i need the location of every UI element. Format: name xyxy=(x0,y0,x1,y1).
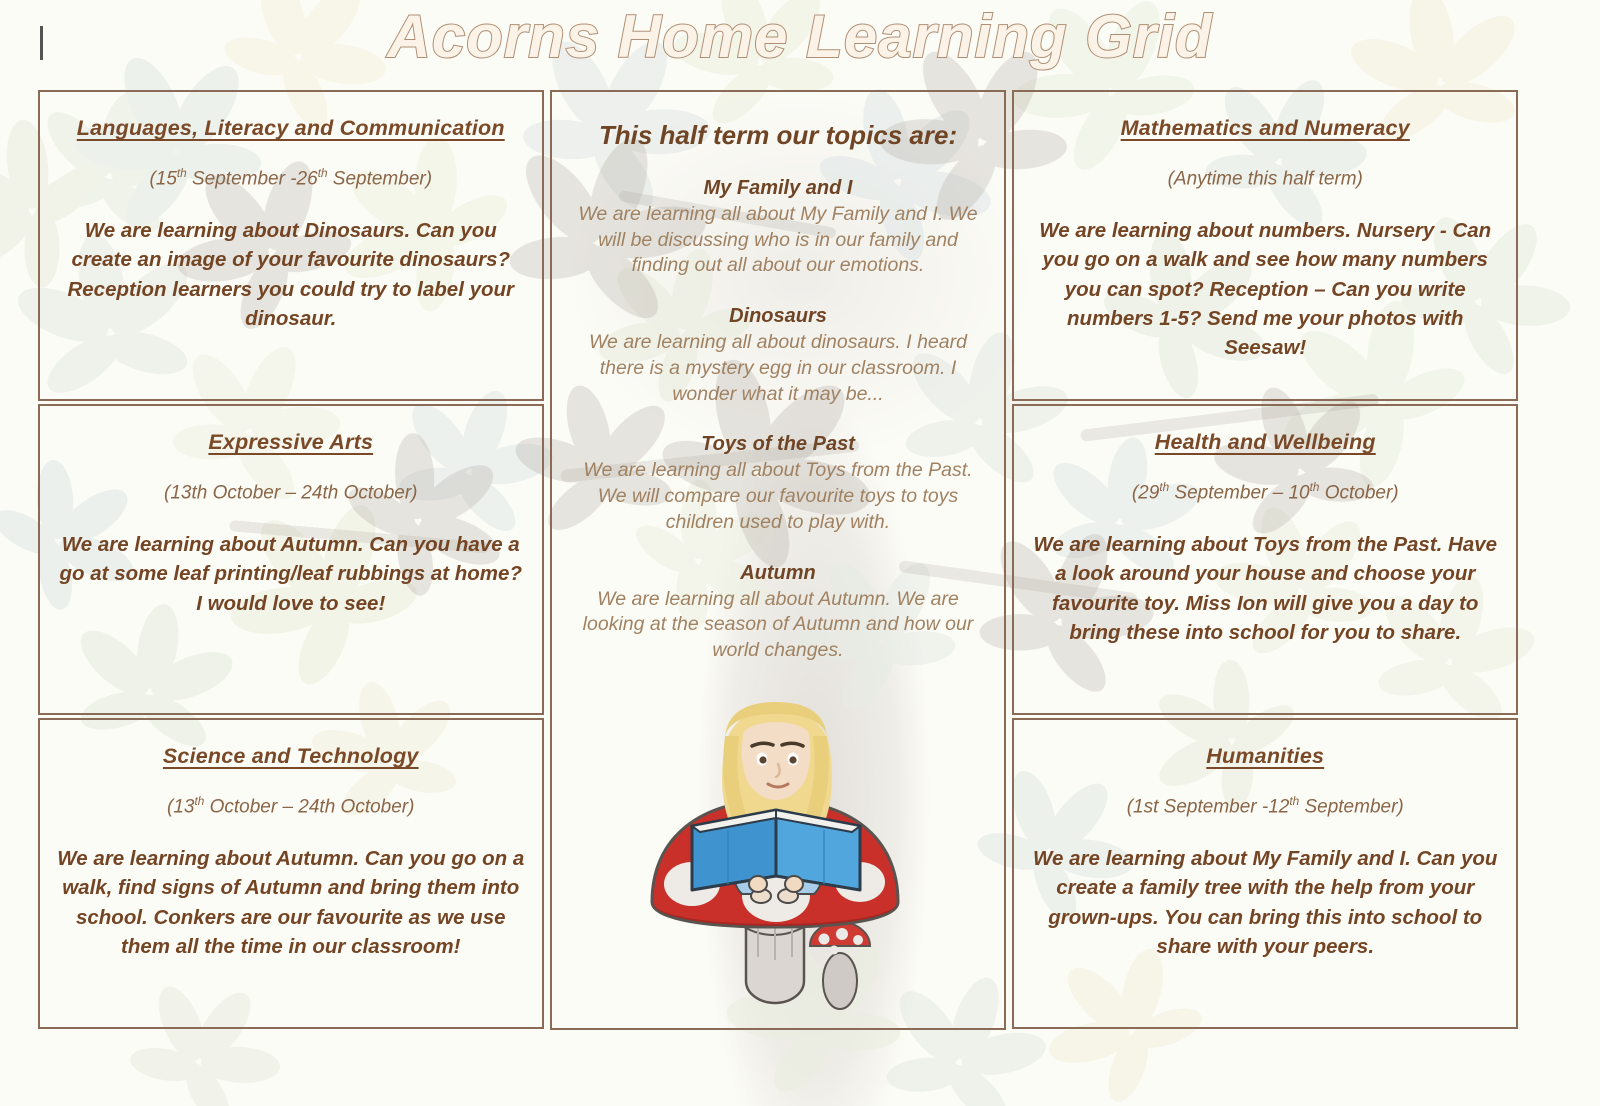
cell-heading: Health and Wellbeing xyxy=(1030,430,1500,455)
topics-title: This half term our topics are: xyxy=(568,120,989,151)
cell-languages-literacy-communication: Languages, Literacy and Communication (1… xyxy=(38,90,544,401)
topic-description: We are learning all about Toys from the … xyxy=(568,458,989,535)
topic-description: We are learning all about dinosaurs. I h… xyxy=(568,330,989,407)
middle-column: This half term our topics are: My Family… xyxy=(550,90,1007,1030)
left-column: Languages, Literacy and Communication (1… xyxy=(38,90,544,1030)
cell-topics: This half term our topics are: My Family… xyxy=(550,90,1007,1030)
topic-description: We are learning all about My Family and … xyxy=(568,202,989,279)
cell-date: (13th October – 24th October) xyxy=(56,481,526,504)
cell-date: (15th September -26th September) xyxy=(56,167,526,190)
cell-heading: Science and Technology xyxy=(56,744,526,769)
text-caret xyxy=(40,26,43,60)
topic-my-family-and-i: My Family and I We are learning all abou… xyxy=(568,177,989,279)
topic-dinosaurs: Dinosaurs We are learning all about dino… xyxy=(568,305,989,407)
cell-body: We are learning about My Family and I. C… xyxy=(1030,844,1500,960)
cell-heading: Humanities xyxy=(1030,744,1500,769)
cell-expressive-arts: Expressive Arts (13th October – 24th Oct… xyxy=(38,404,544,715)
cell-date: (29th September – 10th October) xyxy=(1030,481,1500,504)
cell-health-wellbeing: Health and Wellbeing (29th September – 1… xyxy=(1012,404,1518,715)
cell-heading: Languages, Literacy and Communication xyxy=(56,116,526,141)
cell-body: We are learning about Autumn. Can you go… xyxy=(56,844,526,960)
cell-body: We are learning about Toys from the Past… xyxy=(1030,530,1500,646)
topic-name: My Family and I xyxy=(568,177,989,200)
cell-body: We are learning about Dinosaurs. Can you… xyxy=(56,216,526,332)
topic-toys-of-the-past: Toys of the Past We are learning all abo… xyxy=(568,433,989,535)
cell-date: (1st September -12th September) xyxy=(1030,795,1500,818)
cell-date: (13th October – 24th October) xyxy=(56,795,526,818)
topic-autumn: Autumn We are learning all about Autumn.… xyxy=(568,562,989,664)
topic-description: We are learning all about Autumn. We are… xyxy=(568,587,989,664)
cell-science-technology: Science and Technology (13th October – 2… xyxy=(38,718,544,1029)
cell-date: (Anytime this half term) xyxy=(1030,167,1500,190)
cell-mathematics-numeracy: Mathematics and Numeracy (Anytime this h… xyxy=(1012,90,1518,401)
cell-humanities: Humanities (1st September -12th Septembe… xyxy=(1012,718,1518,1029)
cell-body: We are learning about numbers. Nursery -… xyxy=(1030,216,1500,362)
illustration-container xyxy=(568,664,989,1018)
cell-heading: Mathematics and Numeracy xyxy=(1030,116,1500,141)
topic-name: Dinosaurs xyxy=(568,305,989,328)
topic-name: Autumn xyxy=(568,562,989,585)
girl-reading-on-toadstool-icon xyxy=(628,684,928,1014)
learning-grid: Languages, Literacy and Communication (1… xyxy=(38,90,1518,1030)
cell-heading: Expressive Arts xyxy=(56,430,526,455)
right-column: Mathematics and Numeracy (Anytime this h… xyxy=(1012,90,1518,1030)
page-title: Acorns Home Learning Grid xyxy=(0,2,1600,71)
cell-body: We are learning about Autumn. Can you ha… xyxy=(56,530,526,617)
topic-name: Toys of the Past xyxy=(568,433,989,456)
